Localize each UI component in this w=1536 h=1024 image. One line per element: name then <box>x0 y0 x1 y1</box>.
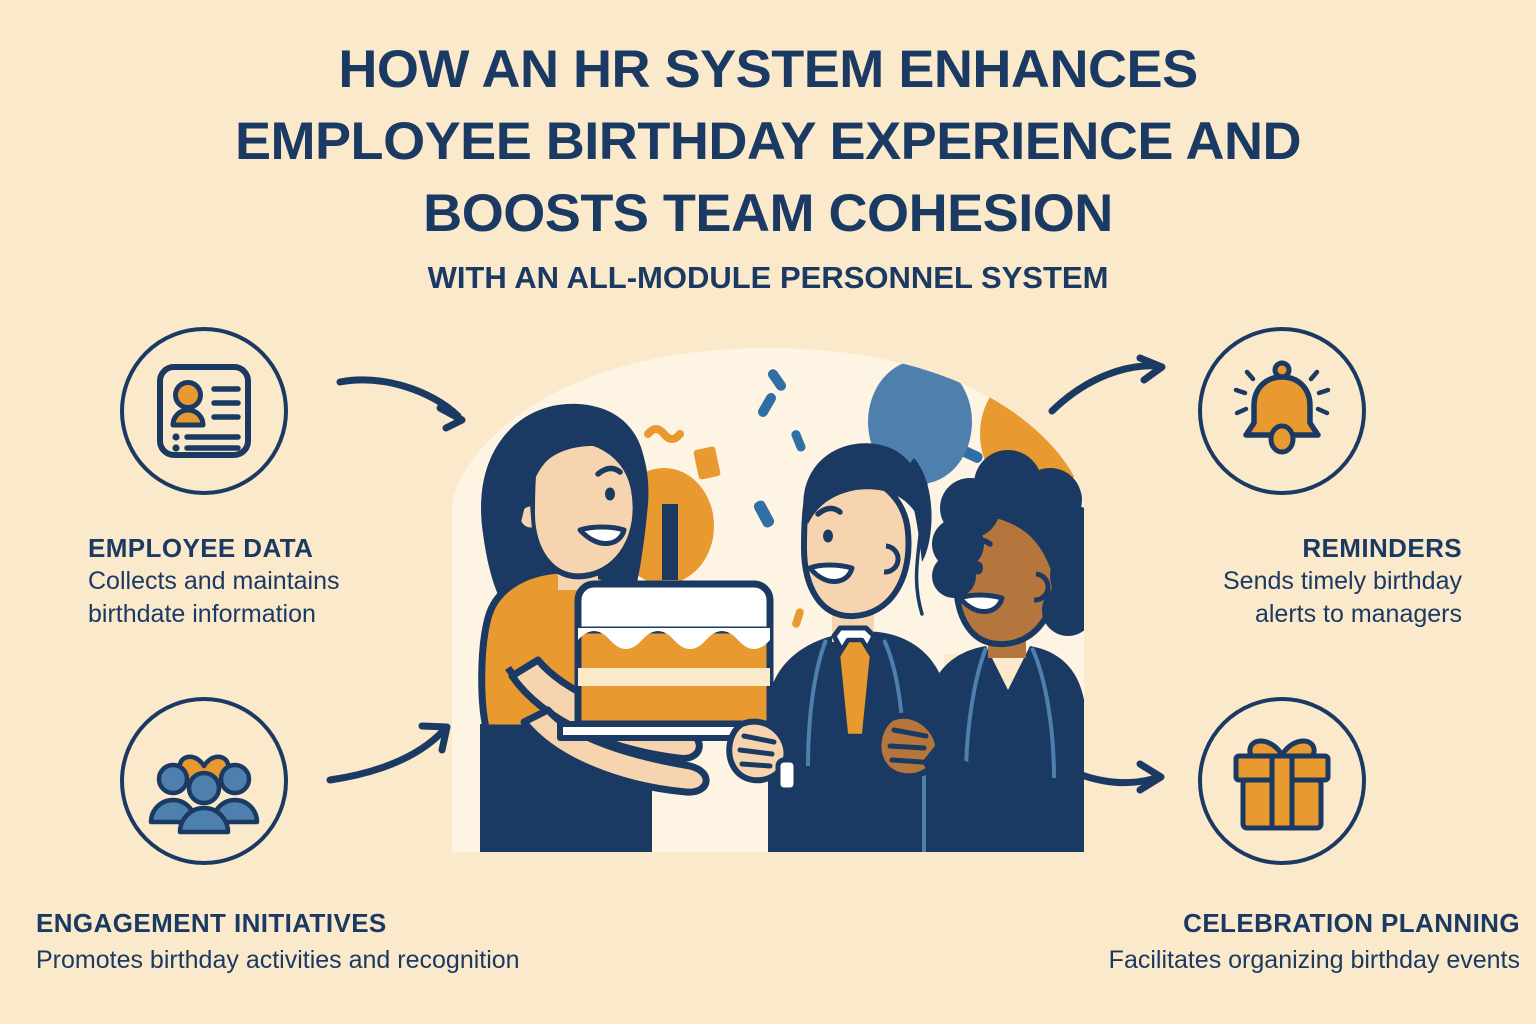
title-line-2: EMPLOYEE BIRTHDAY EXPERIENCE AND <box>0 106 1536 178</box>
header-block: HOW AN HR SYSTEM ENHANCES EMPLOYEE BIRTH… <box>0 34 1536 298</box>
label-engagement-initiatives: ENGAGEMENT INITIATIVES Promotes birthday… <box>36 906 616 980</box>
id-card-icon <box>144 351 264 471</box>
illustration-birthday-celebration <box>452 318 1084 852</box>
label-celebration-planning: CELEBRATION PLANNING Facilitates organiz… <box>1020 906 1520 980</box>
feature-desc-reminders-line1: Sends timely birthday <box>1152 565 1462 598</box>
feature-desc-employee-data-line1: Collects and maintains <box>88 565 418 598</box>
icon-circle-celebration <box>1198 697 1366 865</box>
feature-desc-employee-data-line2: birthdate information <box>88 598 418 631</box>
subtitle: WITH AN ALL-MODULE PERSONNEL SYSTEM <box>0 258 1536 298</box>
feature-title-employee-data: EMPLOYEE DATA <box>88 531 418 565</box>
bell-icon <box>1220 351 1344 471</box>
feature-title-reminders: REMINDERS <box>1152 531 1462 565</box>
feature-desc-reminders-line2: alerts to managers <box>1152 598 1462 631</box>
title-line-3: BOOSTS TEAM COHESION <box>0 178 1536 250</box>
feature-title-engagement: ENGAGEMENT INITIATIVES <box>36 906 616 940</box>
icon-circle-employee-data <box>120 327 288 495</box>
icon-circle-reminders <box>1198 327 1366 495</box>
infographic-canvas: HOW AN HR SYSTEM ENHANCES EMPLOYEE BIRTH… <box>0 0 1536 1024</box>
feature-title-celebration: CELEBRATION PLANNING <box>1020 906 1520 940</box>
title-line-1: HOW AN HR SYSTEM ENHANCES <box>0 34 1536 106</box>
feature-desc-celebration: Facilitates organizing birthday events <box>1020 940 1520 980</box>
icon-circle-engagement <box>120 697 288 865</box>
people-heart-icon <box>142 722 266 840</box>
label-employee-data: EMPLOYEE DATA Collects and maintains bir… <box>88 531 418 631</box>
gift-icon <box>1220 722 1344 840</box>
label-reminders: REMINDERS Sends timely birthday alerts t… <box>1152 531 1462 631</box>
feature-desc-engagement: Promotes birthday activities and recogni… <box>36 940 616 980</box>
